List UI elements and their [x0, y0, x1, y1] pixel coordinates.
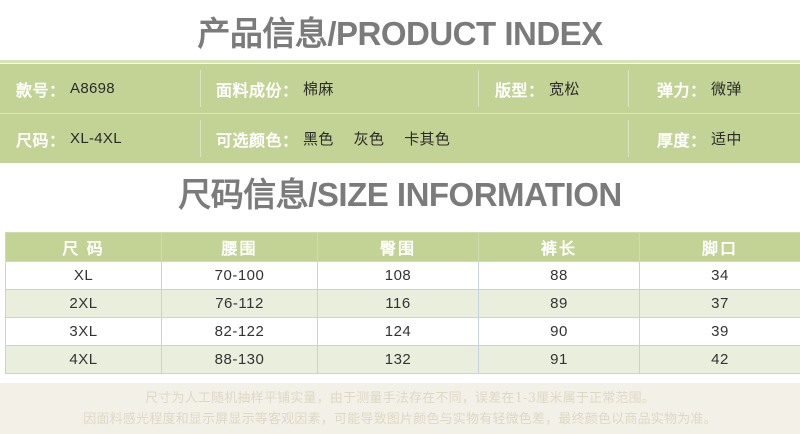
product-info-colon: ：	[690, 127, 706, 151]
product-info-label: 厚度	[657, 127, 690, 151]
product-info-label: 版型	[495, 77, 528, 101]
product-info-value: 棉麻	[303, 78, 334, 99]
size-chart-body: XL 70-100 108 88 34 2XL 76-112 116 89 37…	[6, 262, 800, 374]
product-info-title: 产品信息/PRODUCT INDEX	[0, 14, 800, 54]
cell-size: 4XL	[6, 346, 162, 374]
disclaimer-line-2: 因面料感光程度和显示屏显示等客观因素，可能导致图片颜色与实物有轻微色差，最终颜色…	[83, 409, 717, 430]
cell-length: 90	[479, 318, 640, 346]
column-header-hip: 臀围	[318, 233, 479, 262]
column-header-size: 尺 码	[6, 233, 162, 262]
product-info-colon: ：	[282, 127, 298, 151]
table-row: XL 70-100 108 88 34	[6, 262, 800, 290]
cell-hip: 116	[318, 290, 479, 318]
size-info-title: 尺码信息/SIZE INFORMATION	[0, 175, 800, 215]
product-info-colon: ：	[282, 77, 298, 101]
product-info-cell-fabric: 面料成份 ： 棉麻	[216, 64, 334, 113]
product-info-block: 款号 ： A8698 面料成份 ： 棉麻 版型 ： 宽松 弹力 ： 微弹	[0, 64, 800, 163]
cell-size: 3XL	[6, 318, 162, 346]
product-info-cell-style-no: 款号 ： A8698	[16, 64, 115, 113]
disclaimer-line-1: 尺寸为人工随机抽样平铺实量，由于测量手法存在不同，误差在1-3厘米属于正常范围。	[145, 388, 655, 409]
product-info-colon: ：	[690, 77, 706, 101]
product-info-label: 尺码	[16, 127, 49, 151]
product-info-value: A8698	[70, 80, 115, 97]
cell-length: 89	[479, 290, 640, 318]
cell-hem: 42	[640, 346, 800, 374]
product-info-value: XL-4XL	[70, 130, 122, 147]
table-row: 2XL 76-112 116 89 37	[6, 290, 800, 318]
product-info-cell-elasticity: 弹力 ： 微弹	[657, 64, 742, 113]
cell-size: XL	[6, 262, 162, 290]
product-info-value: 适中	[711, 128, 742, 149]
table-row: 3XL 82-122 124 90 39	[6, 318, 800, 346]
size-chart-header-row: 尺 码 腰围 臀围 裤长 脚口	[6, 233, 800, 262]
cell-waist: 88-130	[162, 346, 318, 374]
product-info-row: 尺码 ： XL-4XL 可选颜色 ： 黑色 灰色 卡其色 厚度 ： 适中	[0, 114, 800, 163]
size-chart-table: 尺 码 腰围 臀围 裤长 脚口 XL 70-100 108 88 34 2XL …	[5, 232, 800, 374]
cell-hem: 37	[640, 290, 800, 318]
product-info-label: 面料成份	[216, 77, 282, 101]
product-info-cell-size-range: 尺码 ： XL-4XL	[16, 114, 122, 163]
product-info-row: 款号 ： A8698 面料成份 ： 棉麻 版型 ： 宽松 弹力 ： 微弹	[0, 64, 800, 113]
cell-waist: 82-122	[162, 318, 318, 346]
product-info-colon: ：	[528, 77, 544, 101]
cell-length: 91	[479, 346, 640, 374]
cell-waist: 70-100	[162, 262, 318, 290]
product-info-cell-fit: 版型 ： 宽松	[495, 64, 580, 113]
column-header-waist: 腰围	[162, 233, 318, 262]
product-info-color-option: 灰色	[354, 128, 385, 149]
cell-length: 88	[479, 262, 640, 290]
column-header-length: 裤长	[479, 233, 640, 262]
table-row: 4XL 88-130 132 91 42	[6, 346, 800, 374]
cell-size: 2XL	[6, 290, 162, 318]
product-info-label: 款号	[16, 77, 49, 101]
product-info-label: 可选颜色	[216, 127, 282, 151]
cell-hip: 108	[318, 262, 479, 290]
product-info-color-option: 黑色	[303, 128, 334, 149]
product-info-top-rule	[0, 60, 800, 63]
cell-hem: 39	[640, 318, 800, 346]
size-chart-head: 尺 码 腰围 臀围 裤长 脚口	[6, 233, 800, 262]
cell-hip: 132	[318, 346, 479, 374]
column-header-hem: 脚口	[640, 233, 800, 262]
product-info-cell-colors: 可选颜色 ： 黑色 灰色 卡其色	[216, 114, 450, 163]
product-info-cell-thickness: 厚度 ： 适中	[657, 114, 742, 163]
product-info-color-option: 卡其色	[404, 128, 450, 149]
product-info-value: 宽松	[549, 78, 580, 99]
cell-waist: 76-112	[162, 290, 318, 318]
cell-hem: 34	[640, 262, 800, 290]
disclaimer-note: 尺寸为人工随机抽样平铺实量，由于测量手法存在不同，误差在1-3厘米属于正常范围。…	[0, 383, 800, 434]
product-info-label: 弹力	[657, 77, 690, 101]
product-detail-page: 产品信息/PRODUCT INDEX 款号 ： A8698 面料成份 ： 棉麻 …	[0, 0, 800, 434]
product-info-colon: ：	[49, 127, 65, 151]
product-info-colon: ：	[49, 77, 65, 101]
product-info-value: 微弹	[711, 78, 742, 99]
cell-hip: 124	[318, 318, 479, 346]
